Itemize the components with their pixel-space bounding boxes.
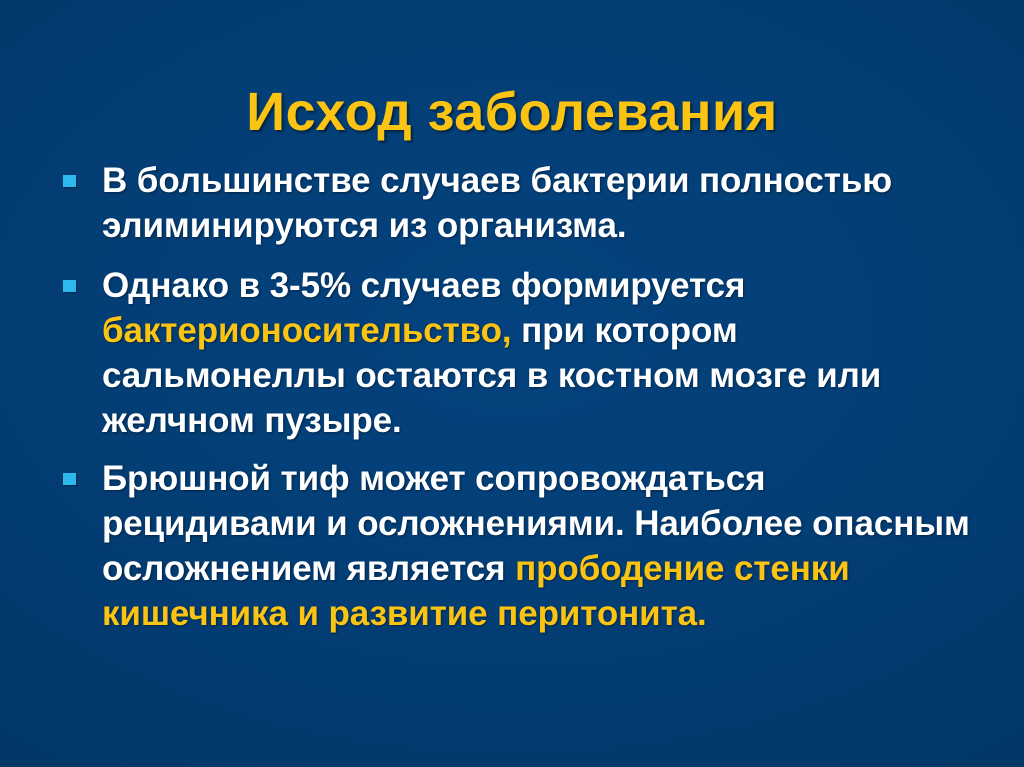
bullet-1-segment-1: В большинстве случаев бактерии полностью…	[102, 161, 892, 245]
list-item-text: Однако в 3-5% случаев формируется бактер…	[102, 263, 988, 443]
list-item: В большинстве случаев бактерии полностью…	[58, 158, 988, 248]
bullet-2-highlight-carriage-state: бактерионосительство,	[102, 311, 512, 350]
square-bullet-icon	[63, 280, 76, 292]
bullet-2-segment-1: Однако в 3-5% случаев формируется	[102, 266, 745, 305]
square-bullet-icon	[63, 473, 76, 485]
list-item-text: Брюшной тиф может сопровождаться рецидив…	[102, 456, 988, 636]
square-bullet-icon	[63, 175, 76, 187]
list-item-text: В большинстве случаев бактерии полностью…	[102, 158, 988, 248]
bullet-spacer	[58, 445, 988, 456]
slide-body-content: В большинстве случаев бактерии полностью…	[58, 158, 988, 638]
presentation-slide: Исход заболевания В большинстве случаев …	[0, 0, 1024, 767]
bullet-spacer	[58, 250, 988, 263]
page-title: Исход заболевания	[246, 84, 778, 141]
list-item: Однако в 3-5% случаев формируется бактер…	[58, 263, 988, 443]
list-item: Брюшной тиф может сопровождаться рецидив…	[58, 456, 988, 636]
